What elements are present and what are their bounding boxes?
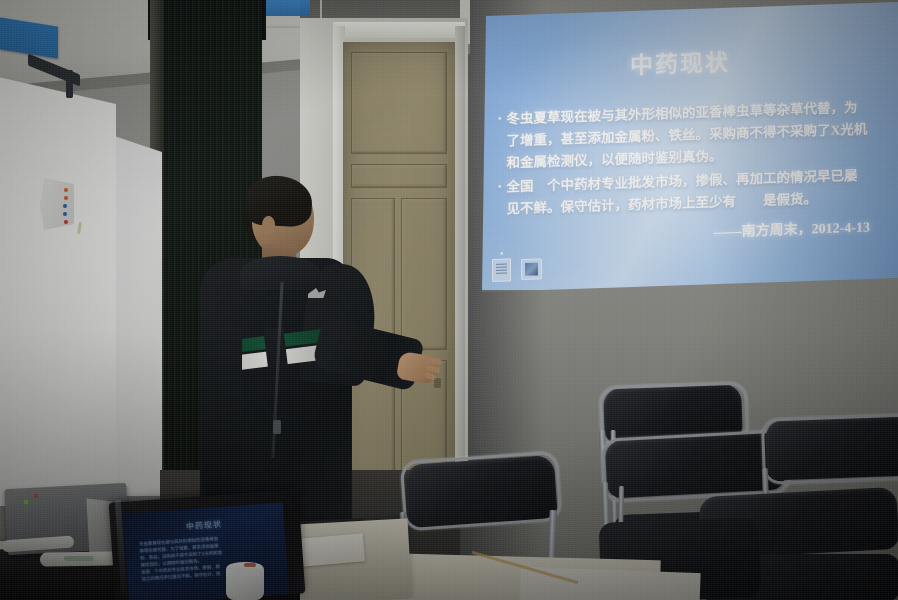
chair-chrome-rim bbox=[400, 451, 562, 532]
broken-image-placeholder-icon bbox=[521, 258, 542, 280]
slide-bullet-1-text: 冬虫夏草现在被与其外形相似的亚香棒虫草等杂草代替，为了增重，甚至添加金属粉、铁丝… bbox=[507, 96, 870, 174]
door-jamb-right bbox=[455, 26, 465, 520]
projection-screen: 中药现状 • 冬虫夏草现在被与其外形相似的亚香棒虫草等杂草代替，为了增重，甚至添… bbox=[462, 2, 898, 290]
slide-attribution: ——南方周末，2012-4-13 bbox=[498, 216, 880, 249]
chair-chrome-rim bbox=[761, 413, 898, 484]
cup-red-marking bbox=[244, 563, 256, 567]
document-placeholder-icon bbox=[492, 258, 511, 282]
door-panel-top bbox=[351, 52, 447, 154]
marker-dot-orange-2 bbox=[64, 196, 68, 200]
jacket-zipper-pull bbox=[273, 420, 281, 434]
amplifier-status-led bbox=[34, 494, 38, 498]
slide-bullet-1: • 冬虫夏草现在被与其外形相似的亚香棒虫草等杂草代替，为了增重，甚至添加金属粉、… bbox=[498, 96, 870, 174]
slide-content: 中药现状 • 冬虫夏草现在被与其外形相似的亚香棒虫草等杂草代替，为了增重，甚至添… bbox=[462, 0, 898, 290]
door-header bbox=[333, 22, 465, 38]
marker-tray bbox=[40, 178, 74, 230]
laptop-screen[interactable]: 中药现状 冬虫夏草现在被与其外形相似的亚香棒虫 草等杂草代替，为了增重，甚至添加… bbox=[123, 503, 289, 600]
marker-dot-blue-2 bbox=[63, 212, 67, 216]
presenter-ear bbox=[262, 216, 275, 234]
amplifier-power-led bbox=[24, 500, 28, 504]
marker-dot-red bbox=[64, 220, 68, 224]
slide-title: 中药现状 bbox=[462, 38, 898, 86]
bullet-icon: • bbox=[498, 109, 502, 175]
marker-dot-orange bbox=[64, 188, 68, 192]
slide-body: • 冬虫夏草现在被与其外形相似的亚香棒虫草等杂草代替，为了增重，甚至添加金属粉、… bbox=[498, 96, 870, 222]
whiteboard bbox=[0, 76, 124, 506]
slide-placeholder-icons bbox=[492, 257, 542, 282]
marker-dot-blue bbox=[63, 204, 67, 208]
cable-label bbox=[64, 556, 94, 561]
slide-bullet-2-text: 全国 个中药材专业批发市场，掺假、再加工的情况早已屡见不鲜。保守估计，药材市场上… bbox=[507, 164, 870, 220]
whiteboard-frame-vertical bbox=[66, 70, 73, 98]
papers-on-table bbox=[299, 533, 365, 566]
presenter-arm-left bbox=[202, 328, 242, 498]
presenter-hair bbox=[245, 174, 314, 227]
photo-scene: 中药现状 • 冬虫夏草现在被与其外形相似的亚香棒虫草等杂草代替，为了增重，甚至添… bbox=[0, 0, 898, 600]
bullet-icon-2: • bbox=[498, 177, 502, 221]
